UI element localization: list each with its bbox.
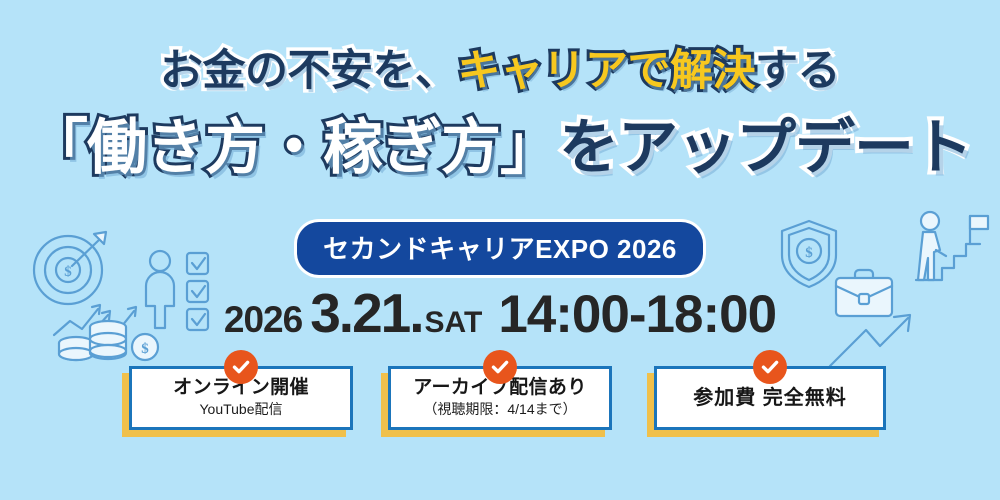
headline-line2-tail: をアップデート: [559, 118, 972, 178]
headline-line1-highlight: キャリアで解決キャリアで解決: [458, 50, 756, 93]
check-circle-icon: [483, 350, 517, 384]
info-box-row: オンライン開催 YouTube配信 アーカイブ配信あり （視聴期限：4/14まで…: [0, 366, 1000, 456]
info-box-online-subtitle: YouTube配信: [199, 401, 282, 418]
headline-line-2: 「働き方・稼ぎ方」「働き方・稼ぎ方」をアップデート: [0, 118, 1000, 178]
event-year: 2026: [224, 299, 302, 340]
event-time-range: 14:00-18:00: [498, 285, 776, 344]
info-box-online: オンライン開催 YouTube配信: [129, 366, 353, 430]
headline-line1-highlight-text: キャリアで解決: [458, 47, 756, 95]
headline-line-1: お金の不安を、キャリアで解決キャリアで解決する: [0, 50, 1000, 93]
info-box-archive-subtitle: （視聴期限：4/14まで）: [423, 401, 576, 418]
headline-line2-bracket-text: 「働き方・稼ぎ方」: [28, 114, 559, 181]
info-box-free: 参加費 完全無料: [654, 366, 886, 430]
event-badge-row: セカンドキャリアEXPO 2026: [0, 222, 1000, 275]
headline-line1-part3: する: [755, 50, 840, 93]
info-box-free-title: 参加費 完全無料: [693, 387, 847, 409]
headline-line1-part1: お金の不安を、: [160, 50, 458, 93]
headline-line2-bracket: 「働き方・稼ぎ方」「働き方・稼ぎ方」: [28, 118, 559, 178]
event-banner: $ $: [0, 0, 1000, 500]
event-title-badge: セカンドキャリアEXPO 2026: [297, 222, 703, 275]
check-circle-icon: [224, 350, 258, 384]
event-day-of-week: SAT: [425, 306, 483, 339]
event-datetime: 20263.21.SAT14:00-18:00: [0, 281, 1000, 345]
check-circle-icon: [753, 350, 787, 384]
info-box-archive: アーカイブ配信あり （視聴期限：4/14まで）: [388, 366, 612, 430]
event-month-day: 3.21.: [310, 282, 422, 344]
